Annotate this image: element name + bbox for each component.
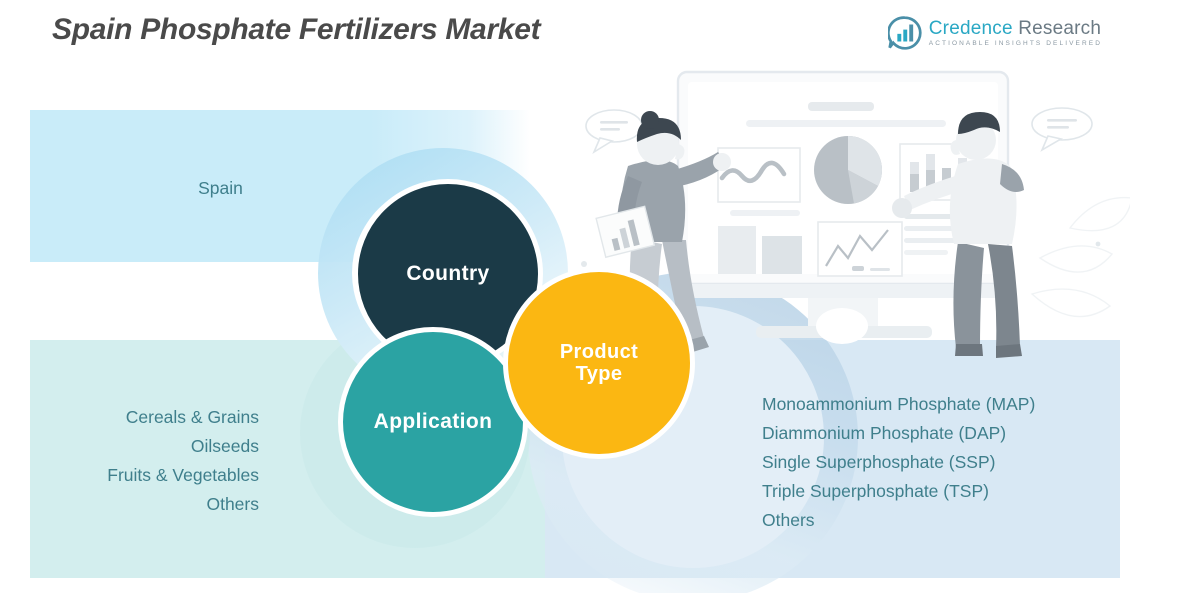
list-item: Others — [28, 490, 259, 519]
brand-tagline: Actionable Insights Delivered — [929, 40, 1102, 47]
bar-chart-bubble-icon — [888, 16, 922, 50]
list-item: Others — [762, 506, 1035, 535]
bubble-product-type-label-line1: Product — [560, 341, 638, 363]
country-items: Spain — [88, 174, 353, 203]
bubble-application-label: Application — [374, 410, 493, 434]
list-item: Monoammonium Phosphate (MAP) — [762, 390, 1035, 419]
brand-logo[interactable]: Credence Research Actionable Insights De… — [888, 16, 1102, 50]
product-type-items: Monoammonium Phosphate (MAP) Diammonium … — [762, 390, 1035, 535]
list-item: Triple Superphosphate (TSP) — [762, 477, 1035, 506]
list-item: Diammonium Phosphate (DAP) — [762, 419, 1035, 448]
list-item: Fruits & Vegetables — [28, 461, 259, 490]
page-title: Spain Phosphate Fertilizers Market — [52, 13, 540, 47]
bubble-product-type[interactable]: Product Type — [503, 267, 695, 459]
list-item: Oilseeds — [28, 432, 259, 461]
application-items: Cereals & Grains Oilseeds Fruits & Veget… — [28, 403, 259, 519]
bubble-application[interactable]: Application — [338, 327, 528, 517]
list-item: Single Superphosphate (SSP) — [762, 448, 1035, 477]
brand-text: Credence Research Actionable Insights De… — [929, 19, 1102, 47]
infographic-canvas: Spain Cereals & Grains Oilseeds Fruits &… — [0, 0, 1178, 593]
list-item: Cereals & Grains — [28, 403, 259, 432]
list-item: Spain — [88, 174, 353, 203]
brand-name-part2: Research — [1018, 18, 1101, 39]
brand-name-part1: Credence — [929, 18, 1013, 39]
brand-wordmark: Credence Research — [929, 19, 1102, 39]
bubble-product-type-label-line2: Type — [560, 363, 638, 385]
bubble-country-label: Country — [406, 262, 489, 286]
